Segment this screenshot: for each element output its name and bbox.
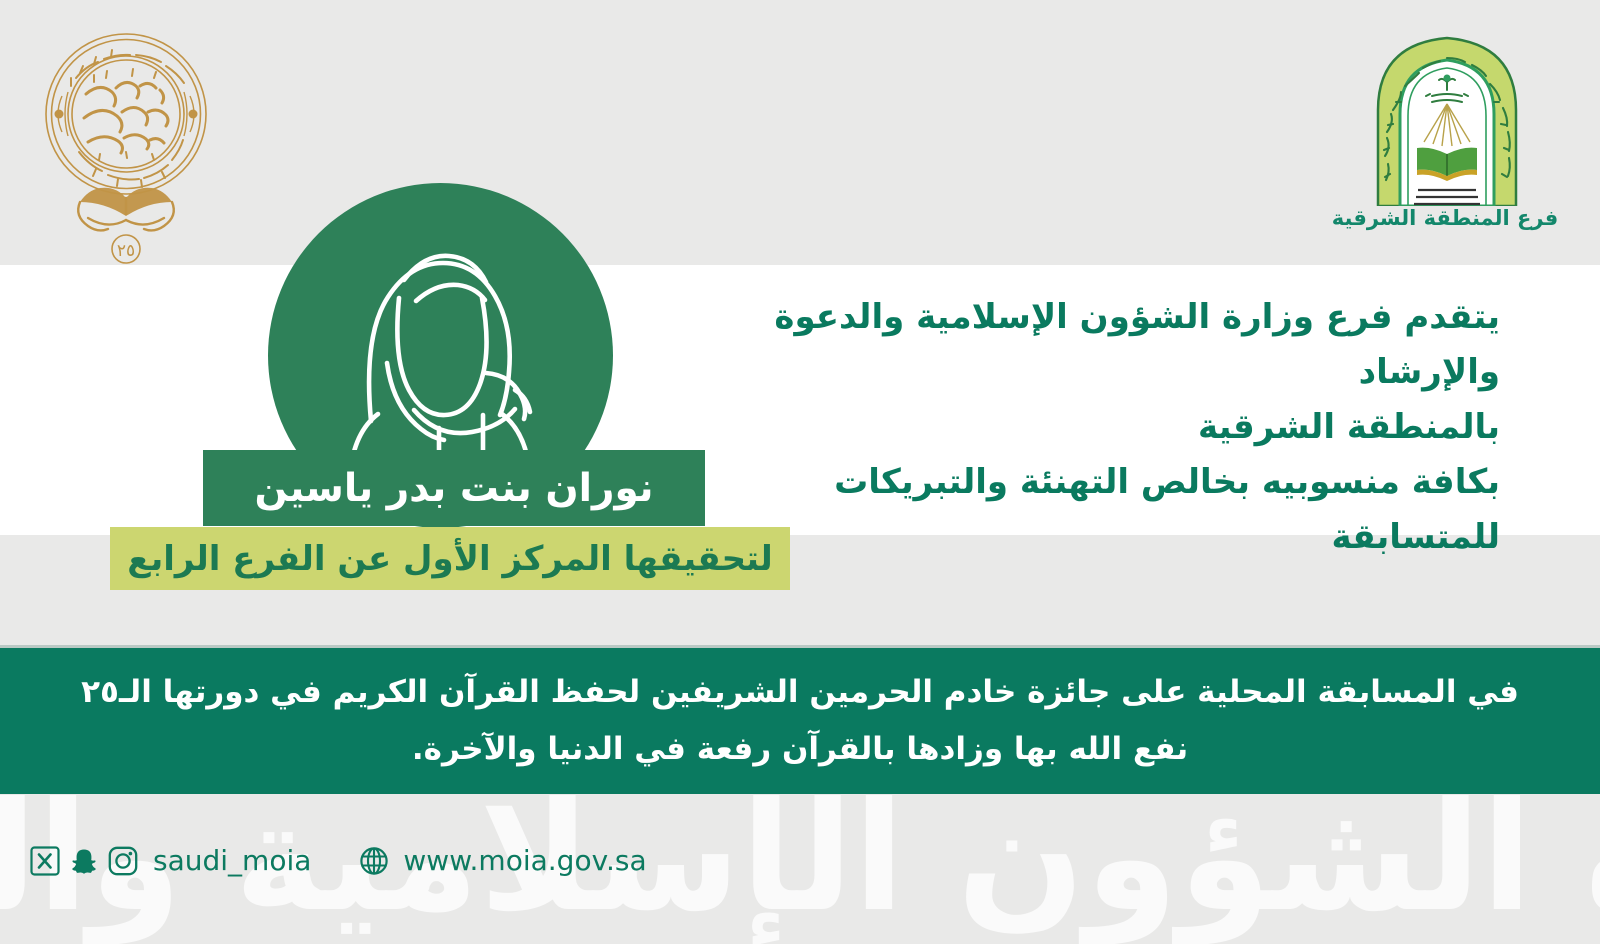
achievement-badge: لتحقيقها المركز الأول عن الفرع الرابع: [110, 527, 790, 590]
winner-name: نوران بنت بدر ياسين: [254, 466, 653, 511]
winner-name-banner: نوران بنت بدر ياسين: [203, 450, 705, 526]
website-url[interactable]: www.moia.gov.sa: [403, 844, 646, 877]
branch-label: فرع المنطقة الشرقية: [1330, 206, 1560, 230]
instagram-icon[interactable]: [108, 846, 138, 876]
x-twitter-icon[interactable]: [30, 846, 60, 876]
main-text-line-3: بكافة منسوبيه بخالص التهنئة والتبريكات ل…: [680, 455, 1500, 565]
social-handle[interactable]: saudi_moia: [153, 844, 311, 877]
main-congratulation-text: يتقدم فرع وزارة الشؤون الإسلامية والدعوة…: [680, 290, 1500, 565]
green-bar-text: في المسابقة المحلية على جائزة خادم الحرم…: [0, 648, 1600, 794]
snapchat-icon[interactable]: [69, 846, 99, 876]
social-icons-group: [30, 846, 138, 876]
globe-icon[interactable]: [359, 846, 389, 876]
main-text-line-2: بالمنطقة الشرقية: [680, 400, 1500, 455]
ministry-logo: [1362, 30, 1532, 206]
green-bar-line-2: نفع الله بها وزادها بالقرآن رفعة في الدن…: [412, 721, 1188, 778]
award-edition-number: ٢٥: [117, 241, 135, 261]
achievement-text: لتحقيقها المركز الأول عن الفرع الرابع: [127, 539, 773, 579]
website-group: www.moia.gov.sa: [359, 844, 646, 877]
main-text-line-1: يتقدم فرع وزارة الشؤون الإسلامية والدعوة…: [680, 290, 1500, 400]
green-bar-line-1: في المسابقة المحلية على جائزة خادم الحرم…: [81, 664, 1519, 721]
poster-canvas: ٢٥: [0, 0, 1600, 944]
footer-contact-row: saudi_moia www.moia.gov.sa: [30, 844, 647, 877]
award-emblem: ٢٥: [36, 26, 216, 266]
